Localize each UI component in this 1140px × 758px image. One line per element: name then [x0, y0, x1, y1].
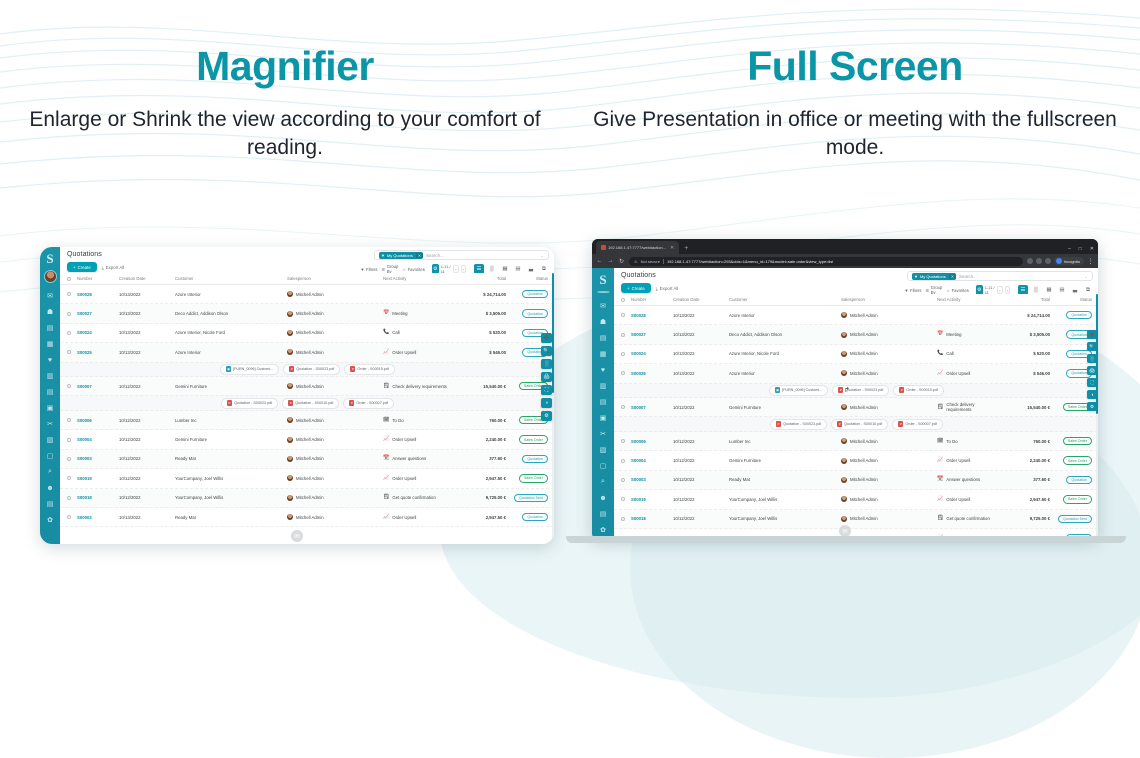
cell-number[interactable]: S00018 [77, 495, 119, 500]
attachment-chip-list: ▣[FURN_0096] Customi...PQuotation - S000… [621, 385, 1092, 396]
column-header-status[interactable]: Status [1050, 297, 1092, 302]
attachment-row: PQuotation - S00023.pdfPQuotation - S000… [60, 396, 554, 411]
user-avatar[interactable] [597, 291, 610, 293]
search-zone-left: ▼ My Quotations ✕ Search... ⌄ ▼ Filters [374, 250, 549, 274]
salesperson-name: Mitchell Admin [850, 439, 878, 444]
row-checkbox[interactable] [67, 457, 77, 461]
download-icon: ⤓ [656, 286, 658, 291]
chat-fab-button[interactable]: ✉ [291, 530, 303, 542]
forward-icon[interactable]: → [607, 258, 614, 264]
activity-icon: 📈 [383, 437, 389, 442]
cell-number[interactable]: S00003 [77, 456, 119, 461]
cut-icon[interactable]: ✂ [597, 428, 609, 440]
attachment-chip[interactable]: PQuotation - S00023.pdf [832, 385, 889, 396]
maximize-icon[interactable]: □ [1079, 246, 1082, 252]
table-row[interactable]: S0001810/12/2022YourCompany, Joel Willis… [60, 489, 554, 508]
search-input[interactable]: ▼ My Quotations ✕ Search... ⌄ [374, 250, 549, 260]
cell-number[interactable]: S00025 [77, 350, 119, 355]
export-all-button[interactable]: ⤓ Export All [656, 286, 679, 291]
favorites-label: Favorites [408, 267, 425, 272]
row-checkbox[interactable] [67, 438, 77, 442]
salesperson-name: Mitchell Admin [296, 350, 324, 355]
chevron-down-icon[interactable]: ⌄ [541, 253, 544, 258]
favorites-button[interactable]: ☆ Favorites [946, 288, 969, 293]
theme-button[interactable]: ◑ [1087, 390, 1097, 399]
attachment-label: Order - S00015.pdf [906, 388, 938, 392]
pdf-file-icon: P [838, 387, 843, 393]
cell-salesperson: Mitchell Admin [841, 312, 937, 318]
activity-icon: 📆 [937, 477, 943, 482]
activity-icon: 📅 [383, 311, 389, 316]
action-buttons: + Create ⤓ Export All [621, 283, 678, 293]
cell-number[interactable]: S00003 [631, 477, 673, 482]
activity-label: Check delivery requirements [946, 402, 992, 412]
theme-button[interactable]: ◑ [541, 398, 552, 408]
mail-icon[interactable]: ▧ [44, 434, 56, 446]
column-header-total[interactable]: Total [992, 297, 1050, 302]
row-checkbox[interactable] [67, 496, 77, 500]
pager-next-button[interactable]: › [1005, 286, 1010, 294]
table-row[interactable]: S0002510/13/2022Azure InteriorMitchell A… [60, 343, 554, 362]
star-icon: ☆ [946, 288, 950, 293]
attachment-label: [FURN_0096] Customi... [782, 388, 822, 392]
pdf-file-icon: P [898, 421, 903, 427]
export-button-label: Export All [106, 265, 125, 270]
column-header-activity[interactable]: Next Activity [937, 297, 992, 302]
column-header-number[interactable]: Number [631, 297, 673, 302]
cell-customer: Deco Addict, Addison Olson [729, 332, 841, 337]
status-badge: Quotation [522, 455, 548, 463]
close-icon[interactable]: ✕ [670, 245, 674, 251]
row-checkbox[interactable] [67, 292, 77, 296]
status-badge: Quotation [1066, 311, 1092, 319]
row-checkbox[interactable] [67, 384, 77, 388]
row-checkbox[interactable] [67, 418, 77, 422]
cut-icon[interactable]: ✂ [44, 418, 56, 430]
browser-tab[interactable]: 192.168.1.47:7777/web#action... ✕ [596, 241, 679, 254]
heart-icon[interactable]: ♥ [597, 364, 609, 376]
table-row[interactable]: S0002810/13/2022Azure InteriorMitchell A… [60, 285, 554, 304]
settings-button[interactable]: ⚙ [541, 411, 552, 421]
create-button[interactable]: + Create [67, 262, 97, 272]
inventory-icon[interactable]: ▣ [597, 412, 609, 424]
message-icon[interactable]: ✉ [597, 300, 609, 312]
cell-customer: Gemini Furniture [729, 405, 841, 410]
back-icon[interactable]: ← [596, 258, 603, 264]
table-row[interactable]: S0000410/12/2022Gemini FurnitureMitchell… [614, 451, 1098, 470]
search-facet-my-quotations[interactable]: ▼ My Quotations ✕ [912, 273, 956, 280]
attachment-chip[interactable]: POrder - S00007.pdf [343, 398, 394, 409]
cell-customer: Azure Interior [175, 292, 287, 297]
row-checkbox[interactable] [621, 459, 631, 463]
attachment-chip[interactable]: POrder - S00015.pdf [344, 364, 395, 375]
activity-label: Get quote confirmation [946, 516, 989, 521]
table-row[interactable]: S0001810/12/2022YourCompany, Joel Willis… [614, 510, 1098, 529]
create-button-label: Create [632, 286, 645, 291]
camera-icon[interactable]: ▢ [44, 450, 56, 462]
salesperson-name: Mitchell Admin [296, 292, 324, 297]
calendar2-icon[interactable]: ▤ [597, 396, 609, 408]
status-badge: Sales Order [1063, 456, 1092, 464]
table-row[interactable]: S0002410/13/2022Azure Interior, Nicole F… [614, 345, 1098, 364]
print-button[interactable]: 🖨 [541, 372, 552, 382]
activity-label: Call [392, 330, 399, 335]
cell-total: $ 546.00 [992, 371, 1050, 376]
cell-total: 377.60 € [992, 477, 1050, 482]
column-header-date[interactable]: Creation Date [673, 297, 729, 302]
contacts-icon[interactable]: ☗ [44, 306, 56, 318]
filter-icon: ▼ [379, 253, 387, 258]
row-checkbox[interactable] [67, 331, 77, 335]
column-header-number[interactable]: Number [77, 276, 119, 281]
row-checkbox[interactable] [621, 313, 631, 317]
search-input[interactable]: ▼ My Quotations ✕ Search... ⌄ [907, 271, 1093, 281]
brand-logo-icon: S [596, 272, 611, 287]
fullscreen-button[interactable]: ⛶ [1087, 378, 1097, 387]
row-checkbox[interactable] [621, 478, 631, 482]
table-row[interactable]: S0000310/12/2022Ready MatMitchell Admin📆… [614, 471, 1098, 490]
attachment-chip[interactable]: ▣[FURN_0096] Customi... [220, 364, 279, 375]
cell-status: Sales Order [1050, 403, 1092, 411]
notes-icon[interactable]: ▤ [597, 508, 609, 520]
avatar [841, 351, 847, 357]
filter-icon: ▼ [904, 288, 908, 293]
calendar-icon[interactable]: ▤ [44, 322, 56, 334]
cell-total: 2,947.50 € [992, 497, 1050, 502]
attachment-label: [FURN_0096] Customi... [233, 367, 273, 371]
search-icon[interactable]: ⌕ [597, 476, 609, 488]
cell-total: $ 520.00 [992, 351, 1050, 356]
cell-customer: Azure Interior [175, 350, 287, 355]
calendar2-icon[interactable]: ▤ [44, 386, 56, 398]
attachment-chip-list: PQuotation - S00023.pdfPQuotation - S000… [621, 419, 1092, 430]
status-badge: Quotation Sent [514, 494, 548, 502]
profile-name: Incognito [1064, 259, 1080, 264]
browser-tab-title: 192.168.1.47:7777/web#action... [608, 245, 666, 250]
zoom-in-button[interactable]: ➕ [1087, 330, 1097, 339]
mail-icon[interactable]: ▧ [597, 444, 609, 456]
cell-number[interactable]: S00024 [631, 351, 673, 356]
tablet-mockup: S ✉☗▤▦♥▥▤▣✂▧▢⌕☻▤✿ Quotations + Create ⤓ … [40, 247, 554, 544]
zoom-out-button[interactable]: 🔍 [541, 346, 552, 356]
cell-number[interactable]: S00002 [77, 515, 119, 520]
zoom-in-button[interactable]: ➕ [541, 333, 552, 343]
extension-icon[interactable] [1027, 258, 1033, 264]
salesperson-name: Mitchell Admin [296, 456, 324, 461]
column-header-customer[interactable]: Customer [729, 297, 841, 302]
table-row[interactable]: S0000410/12/2022Gemini FurnitureMitchell… [60, 430, 554, 449]
activity-label: Answer questions [392, 456, 426, 461]
table-row[interactable]: S0001910/12/2022YourCompany, Joel Willis… [60, 469, 554, 488]
pdf-file-icon: P [288, 400, 293, 406]
row-checkbox[interactable] [621, 333, 631, 337]
search-icon[interactable]: ⌕ [44, 466, 56, 478]
contacts-icon[interactable]: ☗ [597, 316, 609, 328]
cell-number[interactable]: S00019 [631, 497, 673, 502]
reload-icon[interactable]: ↻ [618, 258, 625, 265]
cell-total: 2,240.00 € [992, 458, 1050, 463]
calendar-icon[interactable]: ▤ [597, 332, 609, 344]
table-row[interactable]: S0000610/12/2022Lumber IncMitchell Admin… [614, 432, 1098, 451]
salesperson-name: Mitchell Admin [296, 515, 324, 520]
avatar [841, 404, 847, 410]
activity-label: Order Upsell [392, 476, 416, 481]
scrollbar-track[interactable] [552, 273, 554, 544]
cell-date: 10/13/2022 [673, 313, 729, 318]
column-header-status[interactable]: Status [506, 276, 548, 281]
cell-number[interactable]: S00006 [77, 418, 119, 423]
select-all-checkbox[interactable] [67, 277, 77, 281]
table-row[interactable]: S0002810/13/2022Azure InteriorMitchell A… [614, 306, 1098, 325]
magnifier-title: Magnifier [0, 44, 570, 89]
cell-activity: 📈Order Upsell [937, 458, 992, 463]
attachment-chip[interactable]: PQuotation - S00023.pdf [221, 398, 278, 409]
search-facet-label: My Quotations [387, 253, 416, 258]
attachment-chip[interactable]: POrder - S00015.pdf [893, 385, 944, 396]
chevron-down-icon[interactable]: ⌄ [1085, 274, 1088, 279]
activity-icon: 🗒 [383, 384, 389, 389]
warning-icon: ⚠ [634, 259, 638, 264]
settings-icon[interactable]: ✿ [597, 524, 609, 536]
cell-customer: Deco Addict, Addison Olson [175, 311, 287, 316]
cell-status: Quotation [1050, 311, 1092, 319]
inventory-icon[interactable]: ▣ [44, 402, 56, 414]
cell-number[interactable]: S00007 [77, 384, 119, 389]
pager-prev-button[interactable]: ‹ [453, 265, 458, 273]
row-checkbox[interactable] [621, 439, 631, 443]
column-header-activity[interactable]: Next Activity [383, 276, 448, 281]
chart-icon[interactable]: ▥ [597, 380, 609, 392]
menu-icon[interactable]: ⋮ [1087, 258, 1094, 265]
attachment-chip[interactable]: PQuotation - S00010.pdf [831, 419, 888, 430]
close-window-icon[interactable]: ✕ [1090, 246, 1094, 252]
activity-label: Order Upsell [392, 437, 416, 442]
cell-total: 2,947.50 € [448, 515, 506, 520]
table-header-row: Number Creation Date Customer Salesperso… [60, 273, 554, 285]
filters-button[interactable]: ▼ Filters [360, 267, 377, 272]
column-header-salesperson[interactable]: Salesperson [841, 297, 937, 302]
magnifier-subtitle: Enlarge or Shrink the view according to … [0, 106, 570, 162]
table-row[interactable]: S0000610/12/2022Lumber IncMitchell Admin… [60, 411, 554, 430]
cell-salesperson: Mitchell Admin [287, 495, 383, 501]
row-checkbox[interactable] [621, 352, 631, 356]
message-icon[interactable]: ✉ [44, 290, 56, 302]
select-all-checkbox[interactable] [621, 298, 631, 302]
salesperson-name: Mitchell Admin [296, 495, 324, 500]
cell-salesperson: Mitchell Admin [287, 349, 383, 355]
table-row[interactable]: S0002710/13/2022Deco Addict, Addison Ols… [60, 304, 554, 323]
activity-label: To Do [946, 439, 957, 444]
image-file-icon: ▣ [775, 387, 780, 393]
filters-button[interactable]: ▼ Filters [904, 288, 921, 293]
camera-icon[interactable]: ▢ [597, 460, 609, 472]
cell-date: 10/13/2022 [119, 515, 175, 520]
cell-date: 10/12/2022 [673, 497, 729, 502]
row-checkbox[interactable] [67, 350, 77, 354]
search-facet-my-quotations[interactable]: ▼ My Quotations ✕ [379, 252, 423, 259]
table-row[interactable]: S0000710/12/2022Gemini FurnitureMitchell… [60, 377, 554, 396]
row-checkbox[interactable] [621, 517, 631, 521]
cell-activity: 📈Order Upsell [937, 371, 992, 376]
cell-number[interactable]: S00027 [77, 311, 119, 316]
cell-date: 10/13/2022 [673, 332, 729, 337]
address-bar[interactable]: ⚠ Not secure 192.168.1.47:7777/web#actio… [629, 257, 1023, 266]
row-checkbox[interactable] [67, 476, 77, 480]
cell-customer: Azure Interior, Nicole Ford [729, 351, 841, 356]
control-bar-left: Quotations + Create ⤓ Export All [60, 247, 554, 273]
activity-icon: 📈 [383, 515, 389, 520]
table-row[interactable]: S0000310/12/2022Ready MatMitchell Admin📆… [60, 450, 554, 469]
activity-icon: 📈 [937, 458, 943, 463]
cell-activity: 📞Call [937, 351, 992, 356]
column-header-date[interactable]: Creation Date [119, 276, 175, 281]
avatar [841, 496, 847, 502]
activity-label: Order Upsell [946, 371, 970, 376]
attachment-label: Quotation - S00010.pdf [844, 422, 882, 426]
avatar [1056, 258, 1062, 264]
settings-button[interactable]: ⚙ [1087, 402, 1097, 411]
cell-number[interactable]: S00006 [631, 439, 673, 444]
pager-prev-button[interactable]: ‹ [997, 286, 1002, 294]
grid-icon[interactable]: ▦ [44, 338, 56, 350]
cell-date: 10/12/2022 [119, 418, 175, 423]
remove-facet-icon[interactable]: ✕ [949, 274, 956, 279]
status-badge: Sales Order [519, 435, 548, 443]
avatar [841, 516, 847, 522]
fullscreen-subtitle: Give Presentation in office or meeting w… [570, 106, 1140, 162]
cell-number[interactable]: S00024 [77, 330, 119, 335]
column-header-salesperson[interactable]: Salesperson [287, 276, 383, 281]
table-row[interactable]: S0002710/13/2022Deco Addict, Addison Ols… [614, 325, 1098, 344]
cell-activity: 📆Answer questions [383, 456, 448, 461]
fullscreen-heading-block: Full Screen Give Presentation in office … [570, 44, 1140, 162]
row-checkbox[interactable] [621, 371, 631, 375]
pager-next-button[interactable]: › [461, 265, 466, 273]
cell-salesperson: Mitchell Admin [287, 330, 383, 336]
star-icon: ☆ [402, 267, 406, 272]
downloads-icon[interactable] [1045, 258, 1051, 264]
grid-toggle-button[interactable]: ░ [541, 359, 552, 369]
cell-customer: YourCompany, Joel Willis [729, 497, 841, 502]
grid-icon[interactable]: ▦ [597, 348, 609, 360]
cell-status: Quotation Sent [506, 494, 548, 502]
cell-total: 9,725.00 € [448, 495, 506, 500]
cell-date: 10/13/2022 [673, 371, 729, 376]
cell-date: 10/12/2022 [119, 384, 175, 389]
cell-activity: 🗓To Do [937, 439, 992, 444]
cell-number[interactable]: S00027 [631, 332, 673, 337]
attachment-chip[interactable]: PQuotation - S00023.pdf [770, 419, 827, 430]
table-row[interactable]: S0000710/12/2022Gemini FurnitureMitchell… [614, 398, 1098, 417]
user-avatar[interactable] [44, 270, 57, 283]
grid-toggle-button[interactable]: ░ [1087, 354, 1097, 363]
row-checkbox[interactable] [67, 312, 77, 316]
row-checkbox[interactable] [621, 497, 631, 501]
zoom-out-button[interactable]: 🔍 [1087, 342, 1097, 351]
cell-number[interactable]: S00025 [631, 371, 673, 376]
cell-date: 10/12/2022 [119, 476, 175, 481]
heart-icon[interactable]: ♥ [44, 354, 56, 366]
attachment-label: Order - S00007.pdf [905, 422, 937, 426]
attachment-chip[interactable]: POrder - S00007.pdf [892, 419, 943, 430]
magnifier-tool-rail: ➕🔍░🖨⛶◑⚙ [541, 333, 552, 421]
row-checkbox[interactable] [621, 405, 631, 409]
cell-status: Quotation [1050, 476, 1092, 484]
activity-icon: 🗒 [383, 495, 389, 500]
person-icon[interactable]: ☻ [44, 482, 56, 494]
cell-status: Quotation [506, 309, 548, 317]
cell-number[interactable]: S00028 [77, 292, 119, 297]
column-header-customer[interactable]: Customer [175, 276, 287, 281]
group-icon: ☰ [381, 267, 385, 272]
cell-number[interactable]: S00018 [631, 516, 673, 521]
cell-date: 10/13/2022 [119, 292, 175, 297]
table-row[interactable]: S0001910/12/2022YourCompany, Joel Willis… [614, 490, 1098, 509]
table-row[interactable]: S0002510/13/2022Azure InteriorMitchell A… [614, 364, 1098, 383]
app-sidebar-left[interactable]: S ✉☗▤▦♥▥▤▣✂▧▢⌕☻▤✿ [40, 247, 60, 544]
address-bar-url: 192.168.1.47:7777/web#action=293&cids=1&… [667, 259, 833, 264]
profile-button[interactable]: Incognito [1054, 257, 1084, 265]
bookmark-icon[interactable] [1036, 258, 1042, 264]
favorites-button[interactable]: ☆ Favorites [402, 267, 425, 272]
fullscreen-button[interactable]: ⛶ [541, 385, 552, 395]
cell-number[interactable]: S00019 [77, 476, 119, 481]
table-header-row: Number Creation Date Customer Salesperso… [614, 294, 1098, 306]
search-placeholder: Search... [426, 253, 538, 258]
avatar [287, 383, 293, 389]
settings-icon[interactable]: ✿ [44, 514, 56, 526]
person-icon[interactable]: ☻ [597, 492, 609, 504]
cell-number[interactable]: S00028 [631, 313, 673, 318]
row-checkbox[interactable] [67, 515, 77, 519]
scrollbar-thumb[interactable] [552, 273, 554, 393]
activity-icon: 🗓 [937, 439, 943, 444]
cell-salesperson: Mitchell Admin [841, 438, 937, 444]
export-all-button[interactable]: ⤓ Export All [102, 265, 125, 270]
attachment-chip-list: ▣[FURN_0096] Customi...PQuotation - S000… [67, 364, 548, 375]
create-button[interactable]: + Create [621, 283, 651, 293]
cell-total: $ 3,505.00 [992, 332, 1050, 337]
remove-facet-icon[interactable]: ✕ [416, 253, 423, 258]
print-button[interactable]: 🖨 [1087, 366, 1097, 375]
attachment-chip[interactable]: ▣[FURN_0096] Customi... [769, 385, 828, 396]
cell-customer: Azure Interior [729, 371, 841, 376]
cell-customer: Gemini Furniture [729, 458, 841, 463]
cell-number[interactable]: S00004 [77, 437, 119, 442]
table-row[interactable]: S0002410/13/2022Azure Interior, Nicole F… [60, 324, 554, 343]
attachment-chip[interactable]: PQuotation - S00023.pdf [283, 364, 340, 375]
avatar [287, 330, 293, 336]
cell-salesperson: Mitchell Admin [287, 291, 383, 297]
status-badge: Quotation [522, 513, 548, 521]
chart-icon[interactable]: ▥ [44, 370, 56, 382]
minimize-icon[interactable]: – [1068, 246, 1071, 252]
cell-number[interactable]: S00004 [631, 458, 673, 463]
table-row[interactable]: S0000210/13/2022Ready MatMitchell Admin📈… [60, 508, 554, 527]
attachment-label: Order - S00007.pdf [356, 401, 388, 405]
cell-total: $ 546.00 [448, 350, 506, 355]
app-sidebar-right[interactable]: S ✉☗▤▦♥▥▤▣✂▧▢⌕☻▤✿ [592, 268, 614, 539]
cell-number[interactable]: S00007 [631, 405, 673, 410]
cell-customer: Lumber Inc [729, 439, 841, 444]
status-badge: Quotation [522, 309, 548, 317]
notes-icon[interactable]: ▤ [44, 498, 56, 510]
attachment-chip[interactable]: PQuotation - S00010.pdf [282, 398, 339, 409]
avatar [841, 477, 847, 483]
new-tab-button[interactable]: + [684, 245, 688, 252]
column-header-total[interactable]: Total [448, 276, 506, 281]
cell-status: Sales Order [1050, 495, 1092, 503]
